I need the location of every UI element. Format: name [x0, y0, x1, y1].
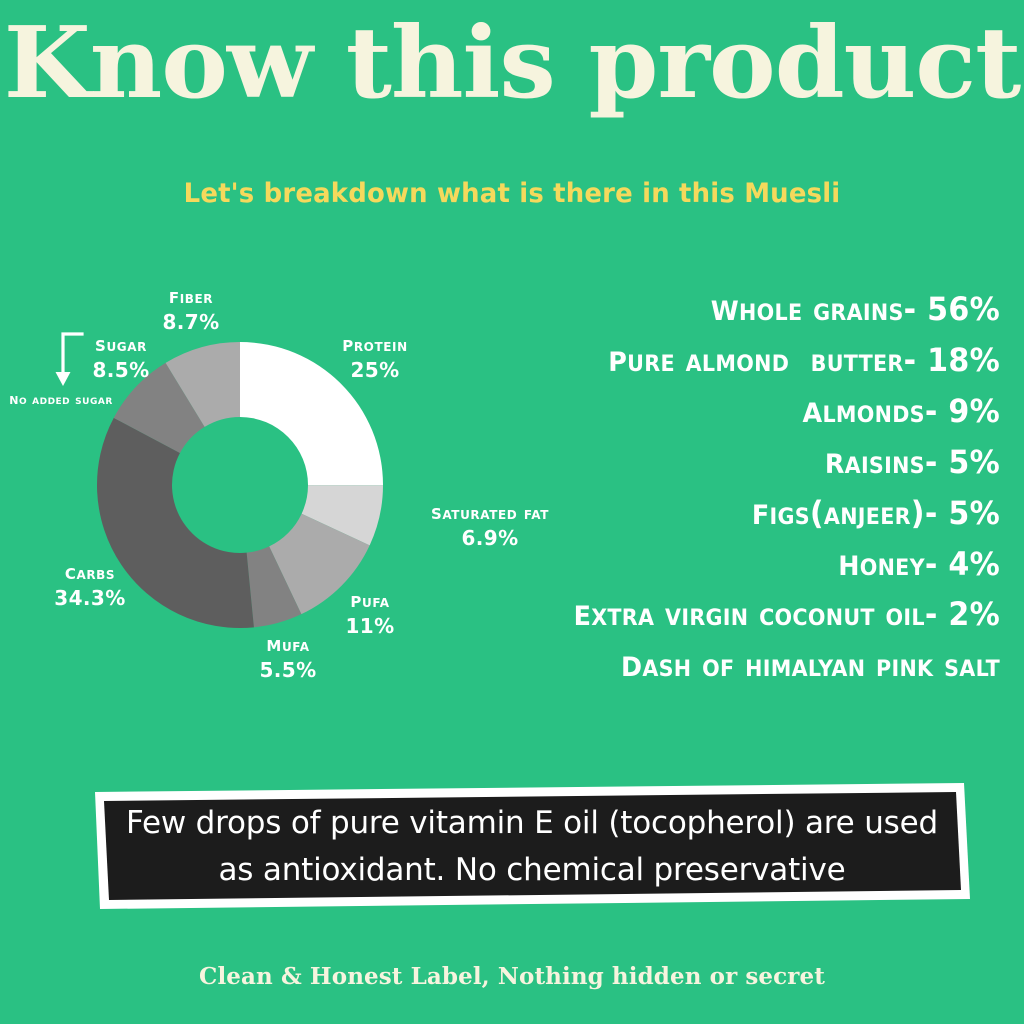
callout-text: Few drops of pure vitamin E oil (tocophe… [124, 801, 940, 893]
ingredient-row: Extra virgin coconut oil- 2% [398, 587, 1000, 638]
slice-label-mufa-value: 5.5% [218, 658, 358, 682]
page-title: Know this product [0, 10, 1024, 118]
footer-note: Clean & Honest Label, Nothing hidden or … [0, 963, 1024, 990]
slice-label-fiber-value: 8.7% [116, 310, 266, 334]
ingredient-row: Pure almond butter- 18% [398, 333, 1000, 384]
infographic-page: { "header": { "title": "Know this produc… [0, 0, 1024, 1024]
slice-label-fiber-name: Fiber [116, 284, 266, 310]
slice-label-carbs-name: Carbs [10, 560, 170, 586]
no-added-sugar-annotation: No added sugar [6, 388, 116, 410]
slice-label-carbs-value: 34.3% [10, 586, 170, 610]
slice-label-carbs: Carbs 34.3% [10, 560, 170, 610]
slice-label-mufa: MUFA 5.5% [218, 632, 358, 682]
ingredient-row: Almonds- 9% [398, 384, 1000, 435]
ingredient-row: Figs(anjeer)- 5% [398, 486, 1000, 537]
ingredient-row: Honey- 4% [398, 537, 1000, 588]
ingredient-row: Whole grains- 56% [398, 282, 1000, 333]
ingredient-list: Whole grains- 56%Pure almond butter- 18%… [360, 282, 1000, 689]
slice-label-sugar-name: Sugar [46, 332, 196, 358]
ingredient-row: Dash of Himalyan Pink Salt [398, 638, 1000, 689]
slice-label-fiber: Fiber 8.7% [116, 284, 266, 334]
slice-label-mufa-name: MUFA [218, 632, 358, 658]
callout-box: Few drops of pure vitamin E oil (tocophe… [90, 779, 974, 913]
slice-label-sugar: Sugar 8.5% [46, 332, 196, 382]
slice-label-sugar-value: 8.5% [46, 358, 196, 382]
ingredient-row: Raisins- 5% [398, 435, 1000, 486]
page-subtitle: Let's breakdown what is there in this Mu… [20, 178, 1003, 209]
